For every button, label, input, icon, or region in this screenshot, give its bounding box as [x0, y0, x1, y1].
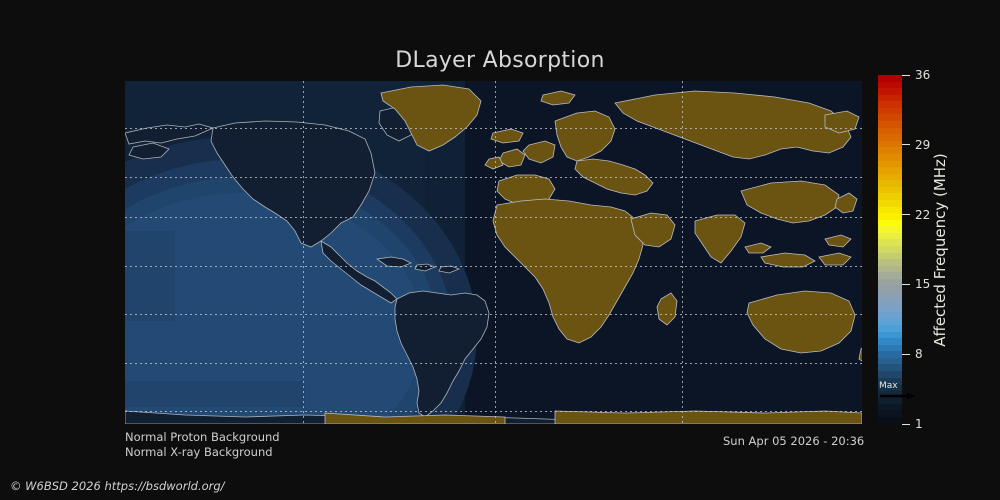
colorbar-segment [878, 345, 902, 352]
colorbar-segment [878, 141, 902, 148]
colorbar-segment [878, 325, 902, 332]
colorbar-segment [878, 358, 902, 365]
colorbar-segment [878, 239, 902, 246]
colorbar-tick: 1 [902, 417, 923, 431]
app-root: DLayer Absorption [0, 0, 1000, 500]
colorbar-segment [878, 371, 902, 378]
colorbar-segment [878, 338, 902, 345]
colorbar-tick: 29 [902, 138, 930, 152]
colorbar-axis-label: Affected Frequency (MHz) [930, 75, 950, 424]
colorbar-segment [878, 226, 902, 233]
colorbar-tick-label: 22 [915, 208, 930, 222]
copyright-notice: © W6BSD 2026 https://bsdworld.org/ [10, 479, 225, 493]
colorbar-segment [878, 292, 902, 299]
colorbar-segment [878, 82, 902, 89]
colorbar-axis-label-text: Affected Frequency (MHz) [931, 153, 949, 347]
colorbar-segment [878, 200, 902, 207]
colorbar-tick-mark [902, 354, 910, 355]
colorbar-tick: 15 [902, 277, 930, 291]
colorbar-segment [878, 318, 902, 325]
graticule-lat [125, 177, 862, 178]
proton-background-note: Normal Proton Background [125, 430, 280, 444]
colorbar-segment [878, 193, 902, 200]
colorbar-tick-label: 1 [915, 417, 923, 431]
colorbar-tick: 22 [902, 208, 930, 222]
graticule-lon [303, 81, 304, 424]
colorbar-segment [878, 180, 902, 187]
graticule-lon [682, 81, 683, 424]
colorbar-segment [878, 207, 902, 214]
colorbar-tick-mark [902, 284, 910, 285]
colorbar-segment [878, 253, 902, 260]
colorbar-tick-label: 15 [915, 277, 930, 291]
continents-layer [125, 81, 862, 424]
colorbar-tick-label: 8 [915, 347, 923, 361]
colorbar-segment [878, 259, 902, 266]
world-map[interactable] [125, 81, 862, 424]
graticule-lat [125, 128, 862, 129]
colorbar-segment [878, 114, 902, 121]
colorbar-segment [878, 75, 902, 82]
colorbar-tick-label: 36 [915, 68, 930, 82]
colorbar-segment [878, 174, 902, 181]
colorbar-tick-label: 29 [915, 138, 930, 152]
colorbar-segment [878, 108, 902, 115]
colorbar-segment [878, 279, 902, 286]
colorbar-segment [878, 213, 902, 220]
colorbar[interactable] [878, 75, 902, 424]
colorbar-segment [878, 410, 902, 417]
colorbar-segment [878, 220, 902, 227]
colorbar-segment [878, 266, 902, 273]
graticule-lat [125, 314, 862, 315]
colorbar-segment [878, 88, 902, 95]
colorbar-segment [878, 233, 902, 240]
xray-background-note: Normal X-ray Background [125, 445, 273, 459]
colorbar-segment [878, 246, 902, 253]
colorbar-segment [878, 161, 902, 168]
max-marker-label: Max [879, 381, 919, 391]
colorbar-tick-mark [902, 144, 910, 145]
graticule-lon [495, 81, 496, 424]
colorbar-segment [878, 312, 902, 319]
colorbar-segment [878, 404, 902, 411]
colorbar-segment [878, 121, 902, 128]
colorbar-segment [878, 128, 902, 135]
colorbar-tick-mark [902, 214, 910, 215]
page-title: DLayer Absorption [0, 48, 1000, 73]
colorbar-segment [878, 147, 902, 154]
colorbar-segment [878, 187, 902, 194]
colorbar-segment [878, 286, 902, 293]
graticule-lat [125, 266, 862, 267]
colorbar-segment [878, 305, 902, 312]
colorbar-tick-mark [902, 424, 910, 425]
graticule-lat [125, 363, 862, 364]
colorbar-segment [878, 134, 902, 141]
colorbar-segment [878, 299, 902, 306]
colorbar-segment [878, 351, 902, 358]
colorbar-segment [878, 95, 902, 102]
colorbar-segment [878, 154, 902, 161]
colorbar-segment [878, 167, 902, 174]
graticule-lat [125, 217, 862, 218]
colorbar-segment [878, 417, 902, 424]
colorbar-segment [878, 272, 902, 279]
colorbar-gradient [878, 75, 902, 424]
colorbar-segment [878, 332, 902, 339]
graticule-lat [125, 411, 862, 412]
colorbar-tick-mark [902, 75, 910, 76]
timestamp: Sun Apr 05 2026 - 20:36 [723, 434, 864, 448]
colorbar-segment [878, 101, 902, 108]
colorbar-tick: 36 [902, 68, 930, 82]
colorbar-tick: 8 [902, 347, 923, 361]
colorbar-segment [878, 364, 902, 371]
max-arrow-icon [879, 392, 915, 400]
max-marker: Max [879, 381, 919, 401]
